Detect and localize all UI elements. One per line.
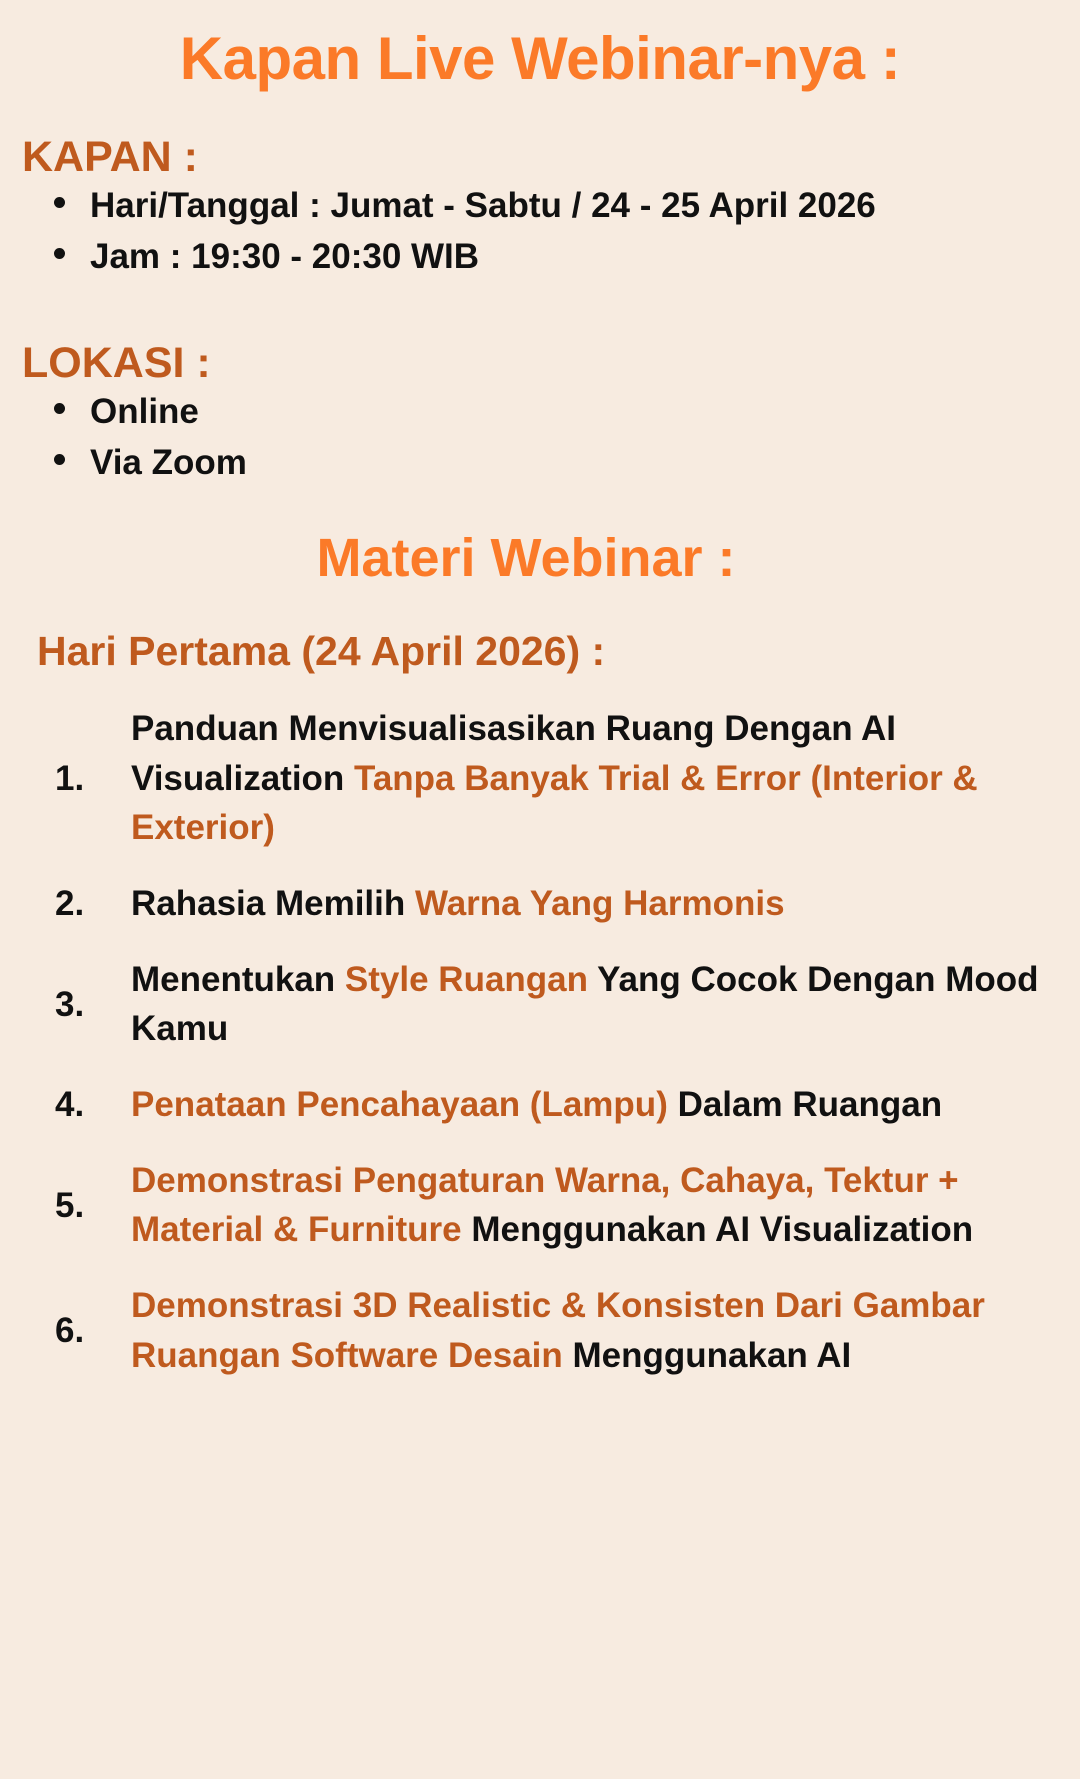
topic-number: 1.: [0, 761, 72, 796]
topic-number: 5.: [0, 1188, 72, 1223]
section-heading-kapan: KAPAN :: [0, 90, 1080, 181]
topic-number: 2.: [0, 886, 72, 921]
topic-item: 1.Panduan Menvisualisasikan Ruang Dengan…: [0, 704, 1080, 853]
topic-text: Menentukan Style Ruangan Yang Cocok Deng…: [72, 955, 1040, 1054]
topic-item: 6.Demonstrasi 3D Realistic & Konsisten D…: [0, 1281, 1080, 1380]
topic-text: Penataan Pencahayaan (Lampu) Dalam Ruang…: [72, 1080, 1040, 1130]
list-item-label: Hari/Tanggal : Jumat - Sabtu / 24 - 25 A…: [90, 186, 876, 225]
topic-item: 4.Penataan Pencahayaan (Lampu) Dalam Rua…: [0, 1080, 1080, 1130]
bullet-dot-icon: [54, 197, 65, 208]
bullet-dot-icon: [54, 248, 65, 259]
topic-text-highlight: Style Ruangan: [345, 960, 588, 999]
list-item: Hari/Tanggal : Jumat - Sabtu / 24 - 25 A…: [0, 181, 1080, 231]
topic-text: Demonstrasi Pengaturan Warna, Cahaya, Te…: [72, 1156, 1040, 1255]
materi-title: Materi Webinar :: [0, 488, 1080, 587]
topic-text-plain: Menggunakan AI Visualization: [462, 1210, 973, 1249]
topic-number: 3.: [0, 987, 72, 1022]
list-item-label: Online: [90, 392, 199, 431]
topic-list: 1.Panduan Menvisualisasikan Ruang Dengan…: [0, 674, 1080, 1381]
list-item-label: Jam : 19:30 - 20:30 WIB: [90, 237, 479, 276]
topic-number: 6.: [0, 1313, 72, 1348]
topic-text: Panduan Menvisualisasikan Ruang Dengan A…: [72, 704, 1040, 853]
topic-text-plain: Menentukan: [131, 960, 345, 999]
list-item-label: Via Zoom: [90, 443, 247, 482]
topic-text-plain: Dalam Ruangan: [668, 1085, 942, 1124]
topic-text-plain: Rahasia Memilih: [131, 884, 415, 923]
topic-text-highlight: Penataan Pencahayaan (Lampu): [131, 1085, 668, 1124]
section-heading-lokasi: LOKASI :: [0, 282, 1080, 387]
page-title: Kapan Live Webinar-nya :: [0, 0, 1080, 90]
list-item: Online: [0, 387, 1080, 437]
kapan-list: Hari/Tanggal : Jumat - Sabtu / 24 - 25 A…: [0, 181, 1080, 282]
webinar-slide: Kapan Live Webinar-nya : KAPAN : Hari/Ta…: [0, 0, 1080, 1779]
lokasi-list: Online Via Zoom: [0, 387, 1080, 488]
topic-item: 5.Demonstrasi Pengaturan Warna, Cahaya, …: [0, 1156, 1080, 1255]
topic-number: 4.: [0, 1087, 72, 1122]
topic-text-highlight: Demonstrasi 3D Realistic & Konsisten Dar…: [131, 1286, 985, 1375]
topic-text: Demonstrasi 3D Realistic & Konsisten Dar…: [72, 1281, 1040, 1380]
topic-item: 2.Rahasia Memilih Warna Yang Harmonis: [0, 879, 1080, 929]
topic-text-highlight: Warna Yang Harmonis: [415, 884, 785, 923]
list-item: Via Zoom: [0, 438, 1080, 488]
bullet-dot-icon: [54, 454, 65, 465]
bullet-dot-icon: [54, 403, 65, 414]
topic-item: 3.Menentukan Style Ruangan Yang Cocok De…: [0, 955, 1080, 1054]
topic-text-plain: Menggunakan AI: [563, 1336, 851, 1375]
day-heading: Hari Pertama (24 April 2026) :: [0, 587, 1080, 674]
topic-text: Rahasia Memilih Warna Yang Harmonis: [72, 879, 1040, 929]
list-item: Jam : 19:30 - 20:30 WIB: [0, 232, 1080, 282]
